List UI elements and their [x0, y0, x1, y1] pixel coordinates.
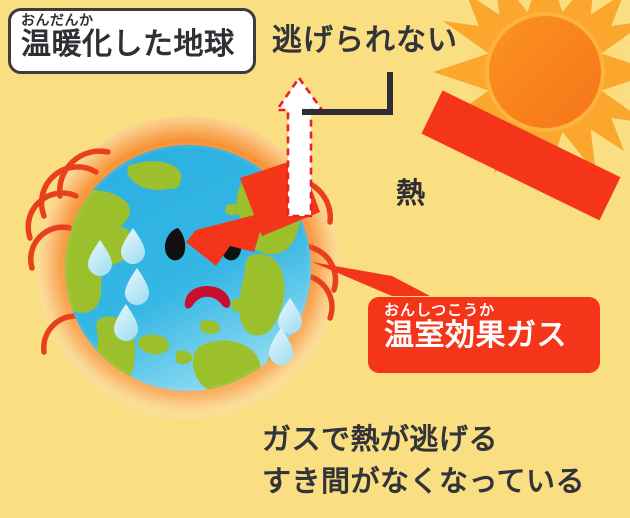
title-plate: おんだんか 温暖化した地球 — [8, 8, 256, 74]
greenhouse-gas-callout: おんしつこうか 温室効果ガス — [368, 297, 600, 373]
callout-text: 温室効果ガス — [384, 319, 600, 354]
caption-line-2: すき間がなくなっている — [262, 460, 585, 502]
caption-line-1: ガスで熱が逃げる — [262, 418, 585, 460]
sun-core — [489, 16, 601, 128]
escape-label: 逃げられない — [272, 15, 458, 59]
bottom-caption: ガスで熱が逃げる すき間がなくなっている — [262, 418, 585, 502]
title-text: 温暖化した地球 — [21, 28, 245, 61]
illustration-canvas: おんだんか 温暖化した地球 逃げられない 熱 おんしつこうか 温室効果ガス ガス… — [0, 0, 630, 518]
callout-furigana: おんしつこうか — [384, 302, 600, 319]
heat-label: 熱 — [396, 170, 425, 212]
